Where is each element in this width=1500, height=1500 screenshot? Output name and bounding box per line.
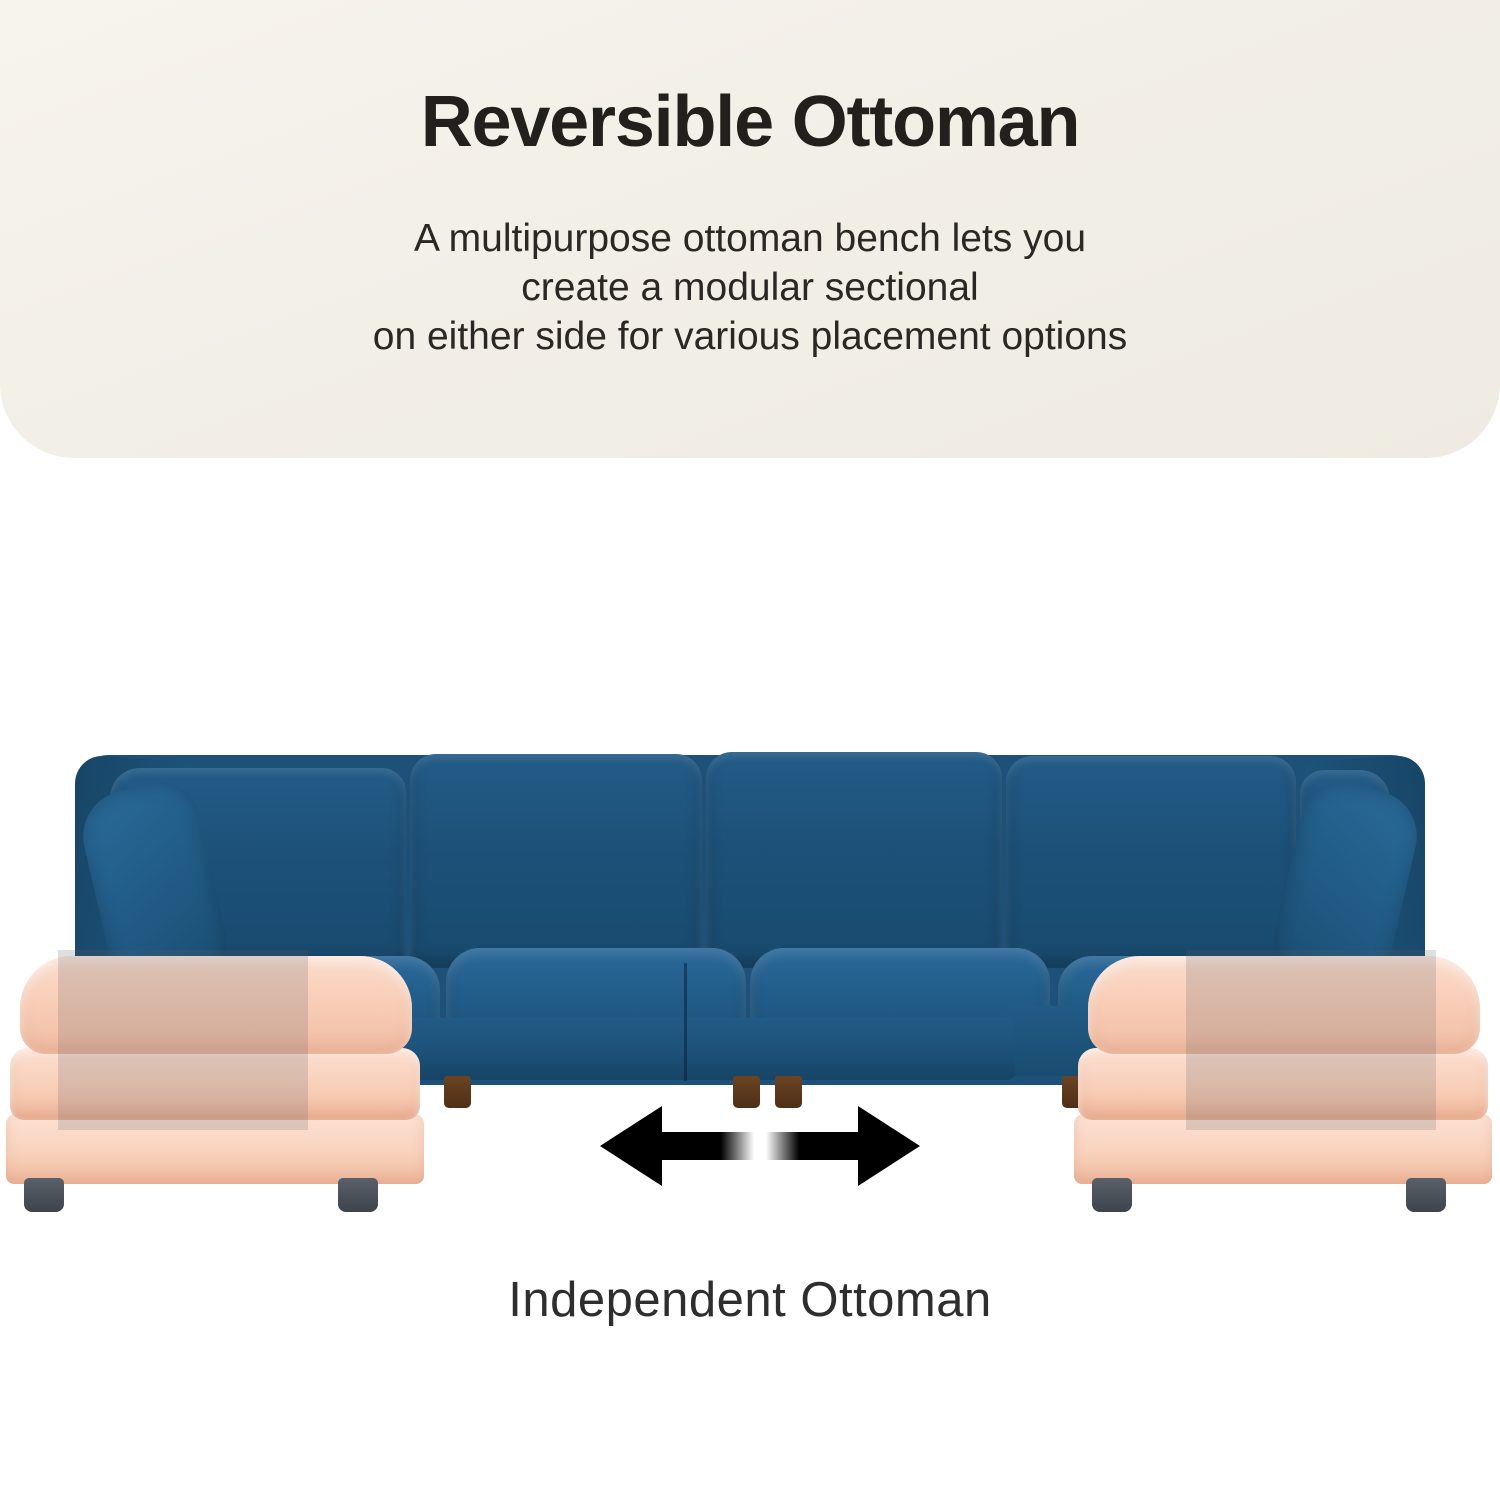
- ottoman-mid-cushion: [1078, 1048, 1488, 1120]
- ottoman-foot: [338, 1178, 378, 1212]
- ottoman-base: [6, 1114, 424, 1184]
- ottoman-left: [6, 956, 426, 1201]
- ottoman-foot: [24, 1178, 64, 1212]
- ottoman-base: [1074, 1114, 1492, 1184]
- subtitle-line-3: on either side for various placement opt…: [0, 312, 1500, 361]
- subtitle-line-1: A multipurpose ottoman bench lets you: [0, 214, 1500, 263]
- module-seam: [684, 963, 687, 1081]
- sofa-base-center: [365, 1018, 1015, 1080]
- ottoman-right: [1074, 956, 1494, 1201]
- sofa-leg: [444, 1076, 471, 1108]
- header-panel: Reversible Ottoman A multipurpose ottoma…: [0, 0, 1500, 458]
- ottoman-foot: [1406, 1178, 1446, 1212]
- ottoman-mid-cushion: [10, 1048, 420, 1120]
- caption-independent-ottoman: Independent Ottoman: [0, 1272, 1500, 1328]
- double-headed-arrow-icon: [600, 1100, 920, 1192]
- ottoman-top-cushion: [1088, 956, 1480, 1054]
- double-arrow-annotation: [600, 1100, 920, 1192]
- ottoman-foot: [1092, 1178, 1132, 1212]
- page-title: Reversible Ottoman: [0, 83, 1500, 162]
- ottoman-top-cushion: [20, 956, 412, 1054]
- subtitle-line-2: create a modular sectional: [0, 263, 1500, 312]
- header-subtitle: A multipurpose ottoman bench lets you cr…: [0, 214, 1500, 361]
- infographic-canvas: Reversible Ottoman A multipurpose ottoma…: [0, 0, 1500, 1500]
